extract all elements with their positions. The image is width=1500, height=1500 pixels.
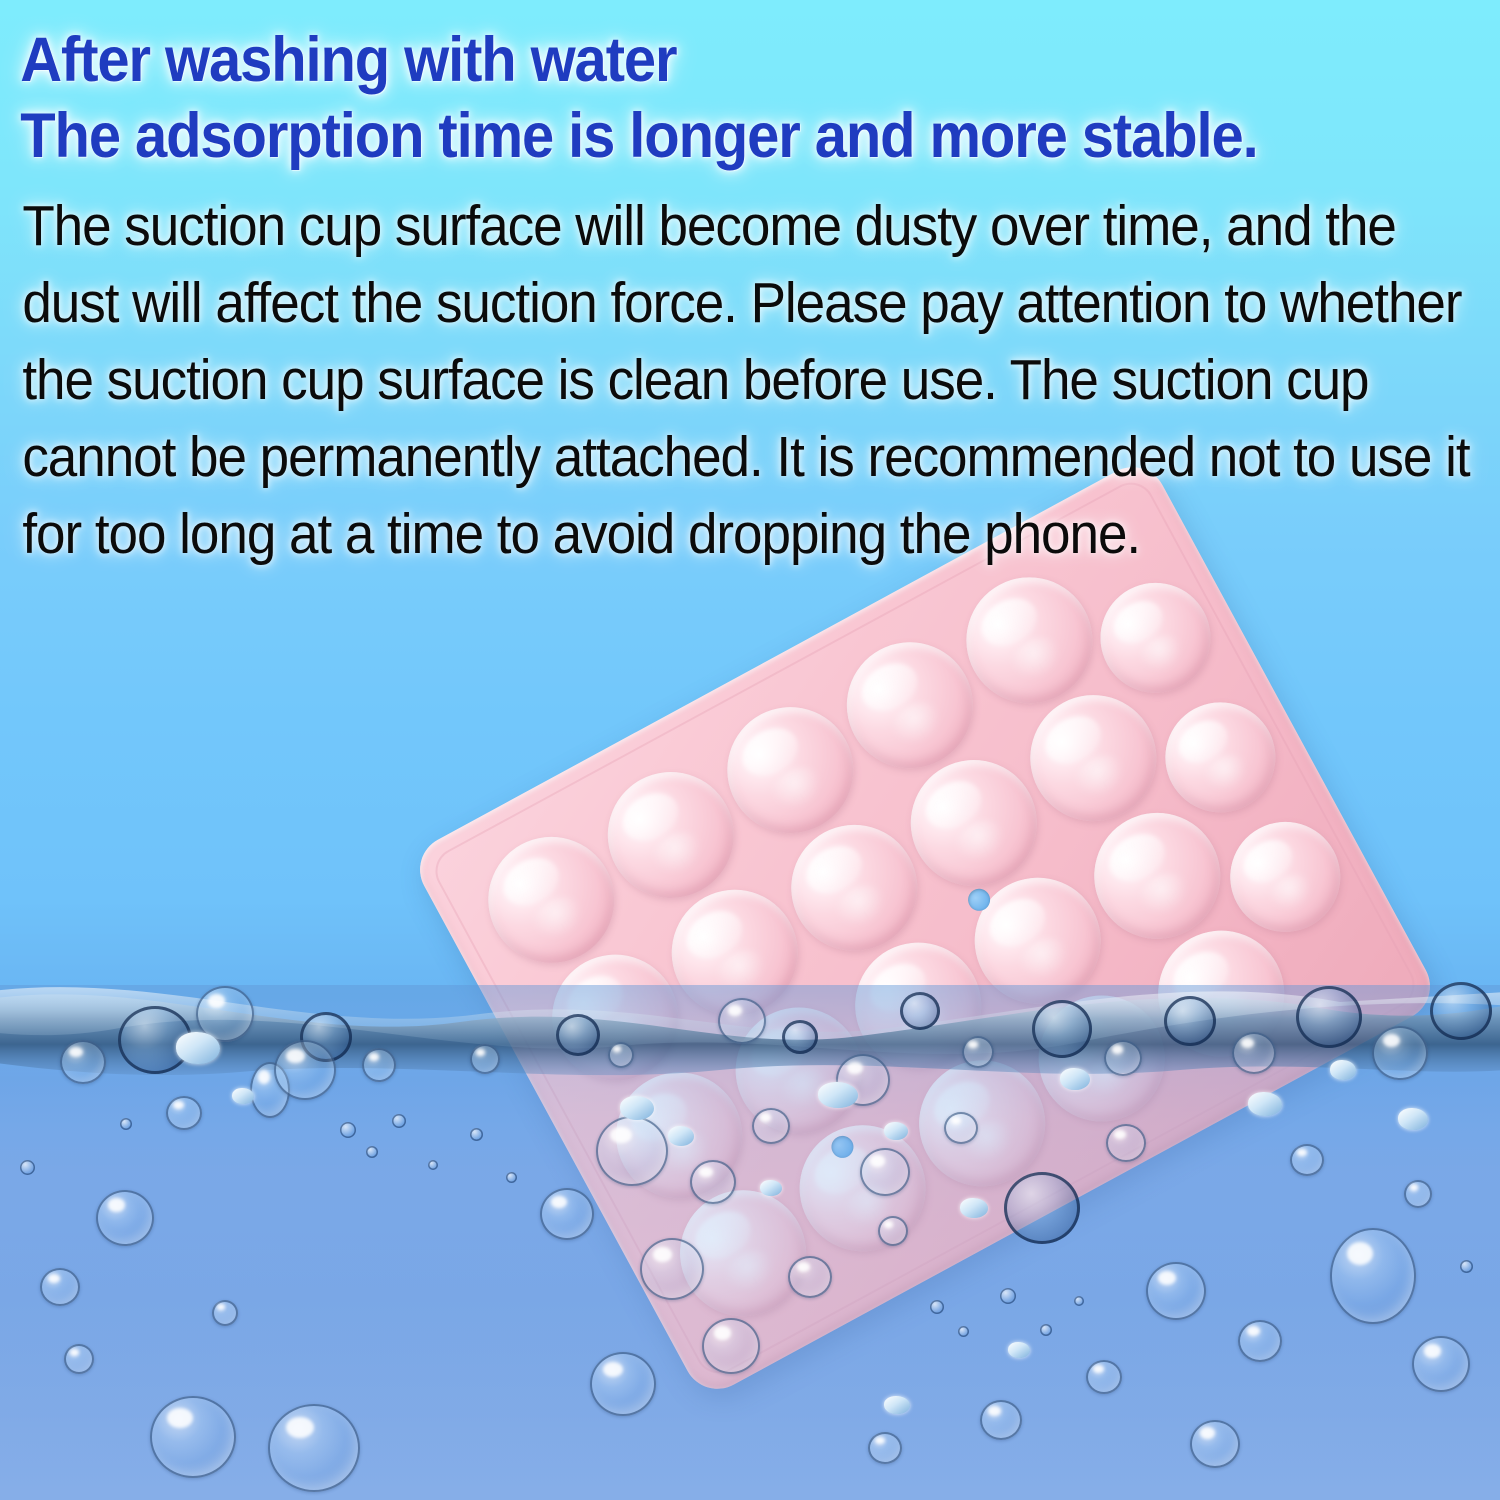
- bubble: [1372, 1026, 1428, 1080]
- bubble: [150, 1396, 236, 1478]
- bubble: [428, 1160, 438, 1170]
- marketing-copy: After washing with water The adsorption …: [0, 0, 1500, 573]
- bubble: [1146, 1262, 1206, 1320]
- bubble: [212, 1300, 238, 1326]
- bubble: [120, 1118, 132, 1130]
- bubble: [980, 1400, 1022, 1440]
- bubble: [1190, 1420, 1240, 1468]
- bubble: [392, 1114, 406, 1128]
- water-splash: [176, 1032, 220, 1064]
- bubble: [506, 1172, 517, 1183]
- suction-cup-pad: [408, 455, 1442, 1401]
- bubble: [40, 1268, 80, 1306]
- bubble: [958, 1326, 969, 1337]
- bubble: [268, 1404, 360, 1492]
- bubble: [1074, 1296, 1084, 1306]
- bubble: [470, 1128, 483, 1141]
- headline-line-2: The adsorption time is longer and more s…: [0, 98, 1380, 174]
- bubble: [20, 1160, 35, 1175]
- bubble: [1040, 1324, 1052, 1336]
- bubble: [1086, 1360, 1122, 1394]
- bubble: [1000, 1288, 1016, 1304]
- bubble: [96, 1190, 154, 1246]
- headline-line-1: After washing with water: [0, 0, 1380, 98]
- bubble: [1430, 982, 1492, 1040]
- bubble: [868, 1432, 902, 1464]
- bubble: [250, 1062, 290, 1118]
- water-splash: [1330, 1060, 1356, 1080]
- product-marketing-image: After washing with water The adsorption …: [0, 0, 1500, 1500]
- bubble: [166, 1096, 202, 1130]
- body-paragraph: The suction cup surface will become dust…: [0, 174, 1500, 573]
- bubble: [930, 1300, 944, 1314]
- bubble: [470, 1044, 500, 1074]
- bubble: [64, 1344, 94, 1374]
- bubble: [274, 1040, 336, 1100]
- bubble: [300, 1012, 352, 1062]
- bubble: [118, 1006, 192, 1074]
- bubble: [362, 1048, 396, 1082]
- bubble: [1290, 1144, 1324, 1176]
- bubble: [1412, 1336, 1470, 1392]
- bubble: [196, 986, 254, 1042]
- bubble: [540, 1188, 594, 1240]
- bubble: [1404, 1180, 1432, 1208]
- water-splash: [1398, 1108, 1428, 1130]
- bubble: [60, 1040, 106, 1084]
- water-splash: [1008, 1342, 1030, 1358]
- bubble: [340, 1122, 356, 1138]
- bubble: [1238, 1320, 1282, 1362]
- water-splash: [232, 1088, 254, 1104]
- bubble: [1330, 1228, 1416, 1324]
- water-splash: [884, 1396, 910, 1414]
- bubble: [590, 1352, 656, 1416]
- bubble: [1460, 1260, 1473, 1273]
- bubble: [366, 1146, 378, 1158]
